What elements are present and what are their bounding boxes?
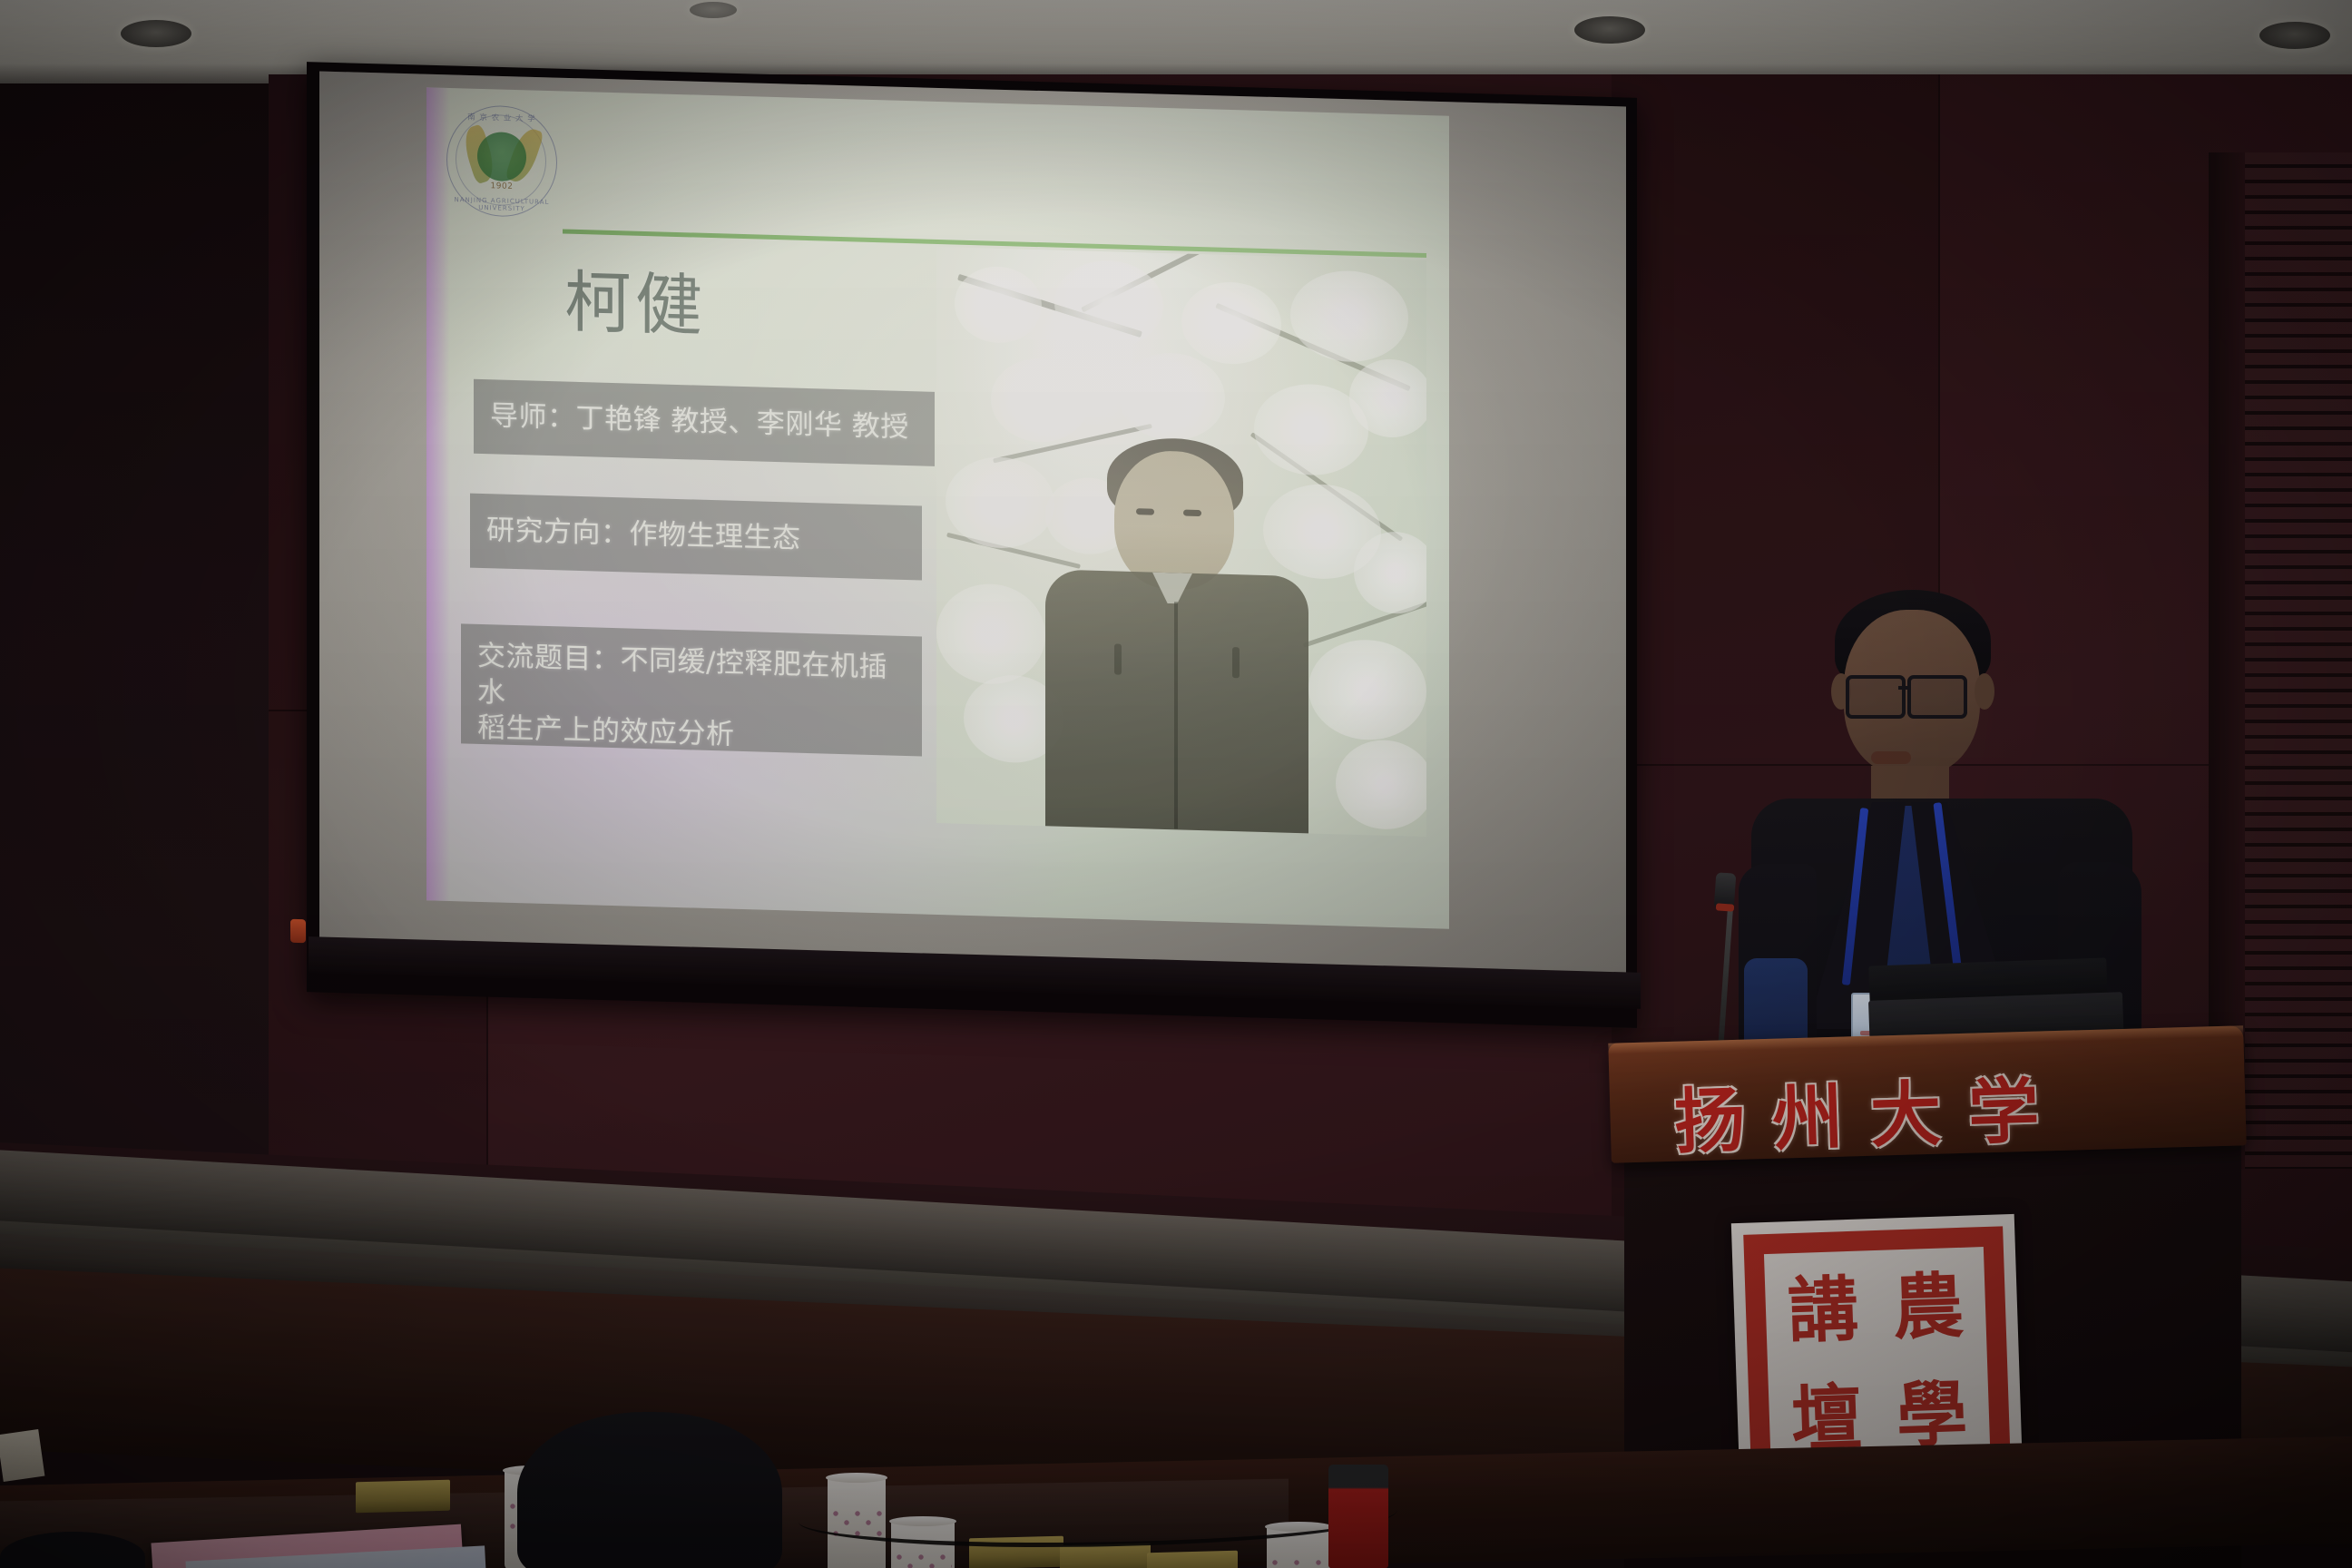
- slide-info-box-research-direction: 研究方向：作物生理生态: [470, 494, 922, 581]
- wall-louvered-panel: [2245, 152, 2352, 1169]
- speaker-mouth: [1871, 751, 1911, 764]
- emblem-year: 1902: [447, 181, 556, 192]
- seal-char-top-right: 農: [1874, 1251, 1983, 1363]
- eyeglasses-icon: [1907, 675, 1967, 719]
- table-name-plate: [1147, 1551, 1238, 1568]
- emblem-arc-bottom-text: NANJING AGRICULTURAL UNIVERSITY: [447, 196, 556, 213]
- thermos-flask: [1328, 1465, 1388, 1568]
- seal-char-top-left: 講: [1769, 1255, 1877, 1367]
- topic-line-1: 交流题目：不同缓/控释肥在机插水: [477, 639, 906, 723]
- microphone-indicator: [1716, 903, 1735, 911]
- portrait-face: [1114, 449, 1234, 591]
- advisor-text: 导师：丁艳锋 教授、李刚华 教授: [490, 398, 909, 446]
- university-emblem-icon: 南 京 农 业 大 学 1902 NANJING AGRICULTURAL UN…: [446, 104, 557, 218]
- audience-member-head: [517, 1412, 782, 1568]
- eyeglasses-bridge: [1898, 686, 1909, 690]
- ceiling-downlight-icon: [2259, 22, 2330, 49]
- eyeglasses-icon: [1846, 675, 1906, 719]
- speaker-ear: [1975, 673, 1994, 710]
- ceiling-downlight-icon: [690, 2, 737, 18]
- research-direction-text: 研究方向：作物生理生态: [486, 513, 801, 557]
- slide-info-box-advisor: 导师：丁艳锋 教授、李刚华 教授: [474, 379, 935, 466]
- slide-title: 柯健: [564, 269, 706, 340]
- emblem-arc-top-text: 南 京 农 业 大 学: [447, 111, 556, 124]
- podium-university-name: 扬州大学: [1672, 1053, 2067, 1168]
- lecture-hall-photo: 南 京 农 业 大 学 1902 NANJING AGRICULTURAL UN…: [0, 0, 2352, 1568]
- ceiling-downlight-icon: [121, 20, 191, 47]
- slide-info-box-topic: 交流题目：不同缓/控释肥在机插水 稻生产上的效应分析: [461, 623, 922, 756]
- presenter-portrait-photo: [936, 247, 1426, 837]
- table-name-plate: [356, 1480, 450, 1514]
- wall-louver-edge: [2209, 152, 2245, 1169]
- paper-scrap: [0, 1429, 44, 1482]
- projected-slide: 南 京 农 业 大 学 1902 NANJING AGRICULTURAL UN…: [426, 87, 1449, 928]
- ceiling-downlight-icon: [1574, 16, 1645, 44]
- screen-pull-knob[interactable]: [290, 919, 306, 943]
